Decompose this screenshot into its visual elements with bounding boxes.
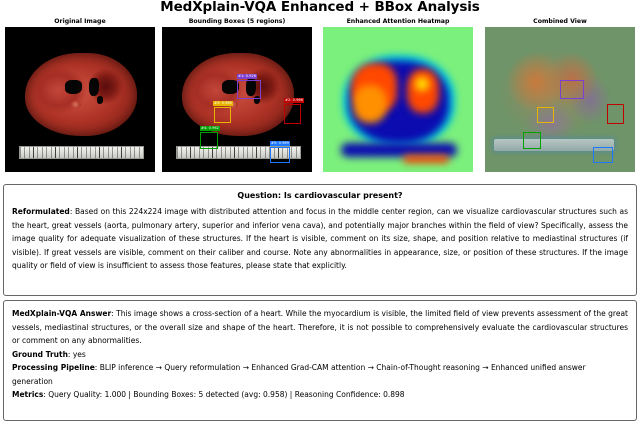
- pipeline-text: : BLIP inference → Query reformulation →…: [12, 363, 586, 386]
- bbox-region-4[interactable]: [523, 132, 541, 149]
- panel-combined-view: Combined View: [485, 18, 635, 178]
- panel-title-heatmap: Enhanced Attention Heatmap: [323, 18, 473, 27]
- panel-original-image: Original Image: [5, 18, 155, 178]
- nodule: [70, 101, 81, 108]
- bbox-label-5: #5: 0.969: [270, 141, 290, 146]
- ruler-ticks: [20, 147, 143, 158]
- bbox-region-3[interactable]: [214, 107, 231, 123]
- bbox-region-5[interactable]: [593, 147, 613, 163]
- ground-truth-label: Ground Truth: [12, 350, 68, 359]
- heat-blob-yellow-right: [415, 77, 429, 91]
- page-title: MedXplain-VQA Enhanced + BBox Analysis: [0, 0, 640, 15]
- bbox-region-2[interactable]: [284, 104, 301, 124]
- bbox-region-5[interactable]: [270, 147, 290, 163]
- metrics-text: : Query Quality: 1.000 | Bounding Boxes:…: [43, 390, 404, 399]
- answer-panel: MedXplain-VQA Answer: This image shows a…: [3, 300, 637, 421]
- answer-label: MedXplain-VQA Answer: [12, 309, 111, 318]
- question-panel: Question: Is cardiovascular present? Ref…: [3, 184, 637, 296]
- panel-attention-heatmap: Enhanced Attention Heatmap: [323, 18, 473, 178]
- figure-row: Original Image Bounding Boxes (5 regions…: [0, 18, 640, 178]
- cavity-1: [65, 80, 82, 93]
- metrics-label: Metrics: [12, 390, 43, 399]
- heat-blob-red-right: [407, 69, 439, 113]
- bbox-label-3: #3: 0.965: [213, 101, 233, 106]
- panel-bounding-boxes: Bounding Boxes (5 regions) #1: 0.928 #2: [162, 18, 312, 178]
- heat-blob-red-ruler: [403, 155, 449, 163]
- scale-ruler: [19, 146, 144, 159]
- answer-paragraph: MedXplain-VQA Answer: This image shows a…: [12, 307, 628, 348]
- panel-title-bboxes: Bounding Boxes (5 regions): [162, 18, 312, 27]
- bbox-region-1[interactable]: [560, 80, 584, 99]
- figure-page: MedXplain-VQA Enhanced + BBox Analysis O…: [0, 0, 640, 424]
- ground-truth-line: Ground Truth: yes: [12, 348, 628, 362]
- question-heading: Question: Is cardiovascular present?: [12, 191, 628, 200]
- cavity-2: [89, 78, 99, 96]
- pipeline-line: Processing Pipeline: BLIP inference → Qu…: [12, 361, 628, 388]
- pipeline-label: Processing Pipeline: [12, 363, 95, 372]
- reformulated-label: Reformulated: [12, 207, 70, 216]
- page-title-text: MedXplain-VQA Enhanced + BBox Analysis: [160, 0, 479, 15]
- combined-view-canvas: [485, 27, 635, 172]
- metrics-line: Metrics: Query Quality: 1.000 | Bounding…: [12, 388, 628, 402]
- reformulated-text: : Based on this 224x224 image with distr…: [12, 207, 628, 270]
- bbox-label-1: #1: 0.928: [237, 74, 257, 79]
- bbox-region-2[interactable]: [607, 104, 624, 124]
- heat-blob-orange-left: [353, 85, 387, 123]
- cavity-3: [97, 96, 104, 103]
- original-image-canvas: [5, 27, 155, 172]
- panel-title-original: Original Image: [5, 18, 155, 27]
- bbox-region-3[interactable]: [537, 107, 554, 123]
- bbox-region-4[interactable]: [200, 132, 218, 149]
- panel-title-combined: Combined View: [485, 18, 635, 27]
- heatmap-canvas: [323, 27, 473, 172]
- reformulated-paragraph: Reformulated: Based on this 224x224 imag…: [12, 205, 628, 273]
- bbox-label-4: #4: 0.962: [200, 126, 220, 131]
- bbox-label-2: #2: 0.966: [284, 98, 304, 103]
- ground-truth-value: : yes: [68, 350, 86, 359]
- bbox-image-canvas: #1: 0.928 #2: 0.966 #3: 0.965 #4: 0.962 …: [162, 27, 312, 172]
- bbox-region-1[interactable]: [237, 80, 261, 99]
- heart-specimen: [25, 53, 138, 136]
